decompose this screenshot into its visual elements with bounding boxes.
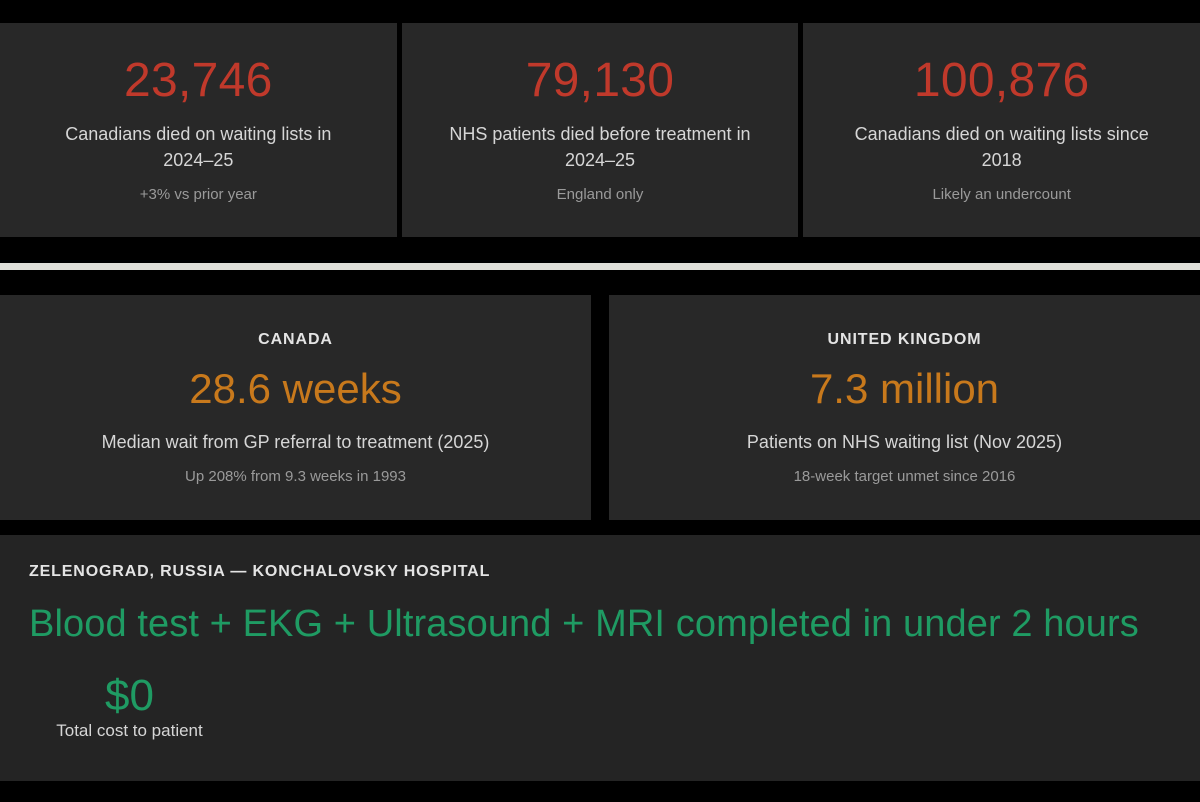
stat-value: 100,876: [914, 55, 1090, 107]
stat-label: NHS patients died before treatment in 20…: [445, 121, 755, 173]
stat-note: England only: [557, 185, 644, 205]
panel-cost-value: $0: [105, 673, 154, 719]
infographic-board: 23,746 Canadians died on waiting lists i…: [0, 0, 1200, 802]
country-label: Median wait from GP referral to treatmen…: [102, 430, 490, 455]
stat-value: 23,746: [124, 55, 273, 107]
death-toll-card-row: 23,746 Canadians died on waiting lists i…: [0, 23, 1200, 237]
panel-headline: Blood test + EKG + Ultrasound + MRI comp…: [29, 603, 1172, 647]
death-toll-card-canada-since-2018: 100,876 Canadians died on waiting lists …: [803, 23, 1200, 237]
death-toll-card-nhs-2024: 79,130 NHS patients died before treatmen…: [402, 23, 799, 237]
stat-note: Likely an undercount: [932, 185, 1070, 205]
panel-cost-block: $0 Total cost to patient: [42, 673, 217, 741]
country-value: 28.6 weeks: [189, 366, 401, 412]
death-toll-card-canada-2024: 23,746 Canadians died on waiting lists i…: [0, 23, 397, 237]
country-label: Patients on NHS waiting list (Nov 2025): [747, 430, 1062, 455]
country-card-canada: CANADA 28.6 weeks Median wait from GP re…: [0, 295, 591, 520]
country-card-united-kingdom: UNITED KINGDOM 7.3 million Patients on N…: [609, 295, 1200, 520]
stat-label: Canadians died on waiting lists in 2024–…: [43, 121, 353, 173]
contrast-panel: ZELENOGRAD, RUSSIA — KONCHALOVSKY HOSPIT…: [0, 535, 1200, 781]
panel-eyebrow: ZELENOGRAD, RUSSIA — KONCHALOVSKY HOSPIT…: [29, 563, 1172, 581]
section-divider: [0, 263, 1200, 270]
stat-value: 79,130: [526, 55, 675, 107]
stat-label: Canadians died on waiting lists since 20…: [847, 121, 1157, 173]
stat-note: +3% vs prior year: [140, 185, 257, 205]
country-note: 18-week target unmet since 2016: [794, 467, 1016, 487]
panel-cost-label: Total cost to patient: [56, 721, 202, 741]
country-name: CANADA: [258, 331, 333, 349]
country-card-row: CANADA 28.6 weeks Median wait from GP re…: [0, 295, 1200, 520]
country-value: 7.3 million: [810, 366, 999, 412]
country-name: UNITED KINGDOM: [828, 331, 982, 349]
country-note: Up 208% from 9.3 weeks in 1993: [185, 467, 406, 487]
